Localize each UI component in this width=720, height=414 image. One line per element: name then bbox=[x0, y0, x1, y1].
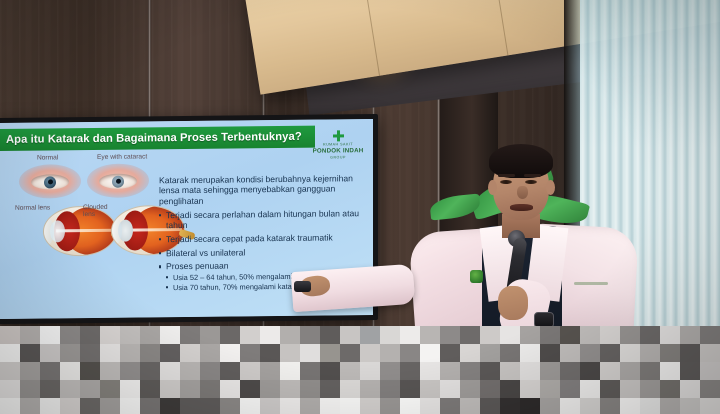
mosaic-tile bbox=[660, 380, 680, 398]
mosaic-tile bbox=[640, 362, 660, 380]
mosaic-tile bbox=[500, 362, 520, 380]
mosaic-tile bbox=[660, 398, 680, 414]
pupil bbox=[116, 179, 121, 184]
mosaic-tile bbox=[700, 362, 720, 380]
mosaic-tile bbox=[340, 326, 360, 344]
logo-sub-text: GROUP bbox=[330, 155, 346, 159]
mosaic-tile bbox=[560, 380, 580, 398]
screenshot-root: Apa itu Katarak dan Bagaimana Proses Ter… bbox=[0, 0, 720, 414]
mosaic-tile bbox=[400, 398, 420, 414]
mosaic-tile bbox=[40, 362, 60, 380]
mosaic-tile bbox=[280, 326, 300, 344]
mosaic-tile bbox=[280, 362, 300, 380]
mosaic-tile bbox=[40, 398, 60, 414]
mosaic-tile bbox=[700, 344, 720, 362]
mosaic-tile bbox=[140, 398, 160, 414]
mosaic-tile bbox=[180, 344, 200, 362]
mosaic-tile bbox=[640, 380, 660, 398]
mosaic-tile bbox=[260, 398, 280, 414]
mosaic-tile bbox=[380, 380, 400, 398]
mosaic-tile bbox=[200, 344, 220, 362]
mosaic-tile bbox=[520, 326, 540, 344]
slide-title: Apa itu Katarak dan Bagaimana Proses Ter… bbox=[0, 131, 302, 146]
mosaic-tile bbox=[500, 326, 520, 344]
mosaic-tile bbox=[520, 398, 540, 414]
ear bbox=[546, 180, 555, 195]
mosaic-tile bbox=[640, 344, 660, 362]
hair bbox=[489, 144, 553, 178]
mosaic-tile bbox=[200, 398, 220, 414]
mosaic-tile bbox=[340, 380, 360, 398]
mosaic-tile bbox=[40, 380, 60, 398]
mosaic-tile bbox=[420, 344, 440, 362]
mosaic-tile bbox=[160, 344, 180, 362]
mosaic-tile bbox=[500, 344, 520, 362]
mosaic-tile bbox=[480, 326, 500, 344]
mosaic-tile bbox=[180, 380, 200, 398]
mosaic-tile bbox=[460, 326, 480, 344]
mosaic-tile bbox=[600, 398, 620, 414]
mosaic-tile bbox=[620, 344, 640, 362]
logo-top-text: RUMAH SAKIT bbox=[323, 142, 353, 146]
mosaic-tile bbox=[360, 326, 380, 344]
mosaic-tile bbox=[540, 380, 560, 398]
mouth bbox=[510, 204, 533, 211]
normal-eye-photo bbox=[19, 164, 81, 199]
mosaic-tile bbox=[180, 398, 200, 414]
mosaic-tile bbox=[240, 326, 260, 344]
cataract-eye-photo bbox=[87, 163, 149, 198]
mosaic-tile bbox=[480, 362, 500, 380]
mosaic-tile bbox=[160, 326, 180, 344]
mosaic-tile bbox=[380, 398, 400, 414]
mosaic-tile bbox=[640, 398, 660, 414]
mosaic-tile bbox=[620, 380, 640, 398]
mosaic-tile bbox=[680, 380, 700, 398]
mosaic-tile bbox=[280, 380, 300, 398]
coat-pocket-trim bbox=[574, 282, 608, 285]
mosaic-tile bbox=[560, 344, 580, 362]
mosaic-tile bbox=[400, 380, 420, 398]
slide-paragraph: Katarak merupakan kondisi berubahnya kej… bbox=[159, 173, 359, 206]
presenter-remote bbox=[294, 281, 311, 292]
mosaic-tile bbox=[260, 380, 280, 398]
mosaic-tile bbox=[60, 344, 80, 362]
mosaic-tile bbox=[560, 398, 580, 414]
bullet-label: Proses penuaan bbox=[166, 261, 229, 272]
mosaic-tile bbox=[100, 326, 120, 344]
mosaic-tile bbox=[360, 380, 380, 398]
mosaic-tile bbox=[400, 362, 420, 380]
mosaic-tile bbox=[460, 362, 480, 380]
mosaic-tile bbox=[40, 344, 60, 362]
mosaic-tile bbox=[100, 362, 120, 380]
mosaic-tile bbox=[140, 326, 160, 344]
mosaic-tile bbox=[200, 362, 220, 380]
mosaic-tile bbox=[700, 398, 720, 414]
mosaic-tile bbox=[20, 380, 40, 398]
mosaic-tile bbox=[580, 398, 600, 414]
mosaic-tile bbox=[20, 398, 40, 414]
mosaic-tile bbox=[120, 398, 140, 414]
bullet-item: Terjadi secara cepat pada katarak trauma… bbox=[159, 232, 359, 245]
mosaic-tile bbox=[460, 344, 480, 362]
mosaic-tile bbox=[480, 380, 500, 398]
mosaic-tile bbox=[0, 398, 20, 414]
mosaic-tile bbox=[520, 380, 540, 398]
coat-emblem-badge bbox=[470, 270, 483, 283]
figure-label-normal-lens: Normal lens bbox=[15, 204, 51, 211]
mosaic-tile bbox=[600, 362, 620, 380]
mosaic-tile bbox=[140, 362, 160, 380]
eyebrow bbox=[498, 174, 515, 177]
mosaic-tile bbox=[400, 344, 420, 362]
mosaic-tile bbox=[420, 326, 440, 344]
mosaic-tile bbox=[460, 398, 480, 414]
mosaic-tile bbox=[620, 362, 640, 380]
mosaic-tile bbox=[360, 362, 380, 380]
mosaic-tile bbox=[400, 326, 420, 344]
mosaic-tile bbox=[220, 362, 240, 380]
mosaic-tile bbox=[160, 398, 180, 414]
mosaic-tile bbox=[80, 398, 100, 414]
mosaic-tile bbox=[540, 398, 560, 414]
mosaic-tile bbox=[320, 326, 340, 344]
iris bbox=[44, 176, 56, 188]
mosaic-tile bbox=[680, 326, 700, 344]
mosaic-tile bbox=[580, 380, 600, 398]
eye-opening bbox=[99, 174, 137, 189]
mosaic-tile bbox=[440, 398, 460, 414]
mosaic-tile bbox=[180, 326, 200, 344]
mosaic-tile bbox=[0, 362, 20, 380]
mosaic-tile bbox=[120, 380, 140, 398]
mosaic-tile bbox=[500, 380, 520, 398]
mosaic-tile bbox=[600, 380, 620, 398]
mosaic-tile bbox=[280, 398, 300, 414]
eye bbox=[500, 180, 512, 184]
mosaic-tile bbox=[440, 380, 460, 398]
mosaic-tile bbox=[320, 398, 340, 414]
mosaic-tile bbox=[700, 326, 720, 344]
mosaic-tile bbox=[160, 380, 180, 398]
hand-gripping-microphone bbox=[498, 286, 528, 320]
mosaic-tile bbox=[200, 380, 220, 398]
mosaic-tile bbox=[80, 380, 100, 398]
mosaic-tile bbox=[520, 344, 540, 362]
mosaic-tile bbox=[300, 344, 320, 362]
mosaic-tile bbox=[60, 326, 80, 344]
mosaic-tile bbox=[80, 362, 100, 380]
mosaic-tile bbox=[0, 344, 20, 362]
mosaic-tile bbox=[460, 380, 480, 398]
mosaic-tile bbox=[340, 398, 360, 414]
pixelated-redaction-bar bbox=[0, 326, 720, 414]
mosaic-tile bbox=[420, 380, 440, 398]
mosaic-tile bbox=[140, 380, 160, 398]
mosaic-tile bbox=[640, 326, 660, 344]
mosaic-tile bbox=[620, 398, 640, 414]
mosaic-tile bbox=[580, 362, 600, 380]
mosaic-tile bbox=[240, 362, 260, 380]
mosaic-tile bbox=[600, 326, 620, 344]
mosaic-tile bbox=[300, 398, 320, 414]
mosaic-tile bbox=[560, 362, 580, 380]
slide-title-bar: Apa itu Katarak dan Bagaimana Proses Ter… bbox=[0, 126, 315, 151]
mosaic-tile bbox=[420, 398, 440, 414]
mosaic-tile bbox=[560, 326, 580, 344]
mosaic-tile bbox=[360, 398, 380, 414]
mosaic-tile bbox=[240, 380, 260, 398]
hospital-logo: RUMAH SAKIT PONDOK INDAH GROUP bbox=[311, 129, 365, 160]
mosaic-tile bbox=[60, 398, 80, 414]
green-cross-icon bbox=[333, 130, 344, 141]
mosaic-tile bbox=[260, 362, 280, 380]
mosaic-tile bbox=[20, 326, 40, 344]
mosaic-tile bbox=[220, 344, 240, 362]
mosaic-tile bbox=[80, 344, 100, 362]
mosaic-tile bbox=[380, 344, 400, 362]
mosaic-tile bbox=[300, 362, 320, 380]
mosaic-tile bbox=[320, 362, 340, 380]
mosaic-tile bbox=[380, 362, 400, 380]
ear bbox=[488, 180, 497, 195]
mosaic-tile bbox=[480, 344, 500, 362]
mosaic-tile bbox=[240, 398, 260, 414]
figure-label-cataract: Eye with cataract bbox=[97, 153, 147, 161]
eyebrow bbox=[524, 174, 541, 177]
mosaic-tile bbox=[120, 344, 140, 362]
mosaic-tile bbox=[380, 326, 400, 344]
mosaic-tile bbox=[20, 344, 40, 362]
mosaic-tile bbox=[660, 326, 680, 344]
mosaic-tile bbox=[300, 380, 320, 398]
eye bbox=[525, 180, 537, 184]
mosaic-tile bbox=[320, 380, 340, 398]
mosaic-tile bbox=[100, 380, 120, 398]
mosaic-tile bbox=[280, 344, 300, 362]
iris-clouded bbox=[112, 175, 124, 187]
mosaic-tile bbox=[20, 362, 40, 380]
logo-name: PONDOK INDAH bbox=[313, 147, 364, 155]
mosaic-tile bbox=[340, 344, 360, 362]
bullet-item: Bilateral vs unilateral bbox=[159, 246, 359, 259]
mosaic-tile bbox=[100, 398, 120, 414]
mosaic-tile bbox=[680, 398, 700, 414]
mosaic-tile bbox=[220, 398, 240, 414]
figure-label-normal: Normal bbox=[37, 154, 58, 161]
mosaic-tile bbox=[140, 344, 160, 362]
mosaic-tile bbox=[0, 380, 20, 398]
mosaic-tile bbox=[300, 326, 320, 344]
mosaic-tile bbox=[580, 344, 600, 362]
mosaic-tile bbox=[540, 344, 560, 362]
mosaic-tile bbox=[500, 398, 520, 414]
mosaic-tile bbox=[360, 344, 380, 362]
mosaic-tile bbox=[340, 362, 360, 380]
mosaic-tile bbox=[120, 326, 140, 344]
mosaic-tile bbox=[100, 344, 120, 362]
mosaic-tile bbox=[440, 326, 460, 344]
mosaic-tile bbox=[480, 398, 500, 414]
mosaic-tile bbox=[440, 362, 460, 380]
mosaic-tile bbox=[440, 344, 460, 362]
mosaic-tile bbox=[520, 362, 540, 380]
mosaic-tile bbox=[600, 344, 620, 362]
mosaic-tile bbox=[240, 344, 260, 362]
mosaic-tile bbox=[620, 326, 640, 344]
mosaic-tile bbox=[260, 326, 280, 344]
mosaic-tile bbox=[120, 362, 140, 380]
nose bbox=[517, 186, 528, 199]
mosaic-tile bbox=[420, 362, 440, 380]
mosaic-tile bbox=[60, 362, 80, 380]
mosaic-tile bbox=[580, 326, 600, 344]
mosaic-tile bbox=[660, 362, 680, 380]
mosaic-tile bbox=[260, 344, 280, 362]
mosaic-tile bbox=[680, 344, 700, 362]
pupil bbox=[48, 179, 53, 184]
bullet-item: Terjadi secara perlahan dalam hitungan b… bbox=[159, 208, 359, 231]
mosaic-tile bbox=[60, 380, 80, 398]
mosaic-tile bbox=[80, 326, 100, 344]
mosaic-tile bbox=[220, 380, 240, 398]
mosaic-tile bbox=[540, 326, 560, 344]
mosaic-tile bbox=[320, 344, 340, 362]
eye-opening bbox=[31, 174, 69, 189]
mosaic-tile bbox=[160, 362, 180, 380]
mosaic-tile bbox=[220, 326, 240, 344]
mosaic-tile bbox=[540, 362, 560, 380]
mosaic-tile bbox=[40, 326, 60, 344]
mosaic-tile bbox=[700, 380, 720, 398]
presenter bbox=[398, 130, 678, 330]
mosaic-tile bbox=[180, 362, 200, 380]
mosaic-tile bbox=[200, 326, 220, 344]
mosaic-tile bbox=[660, 344, 680, 362]
mosaic-tile bbox=[680, 362, 700, 380]
mosaic-tile bbox=[0, 326, 20, 344]
